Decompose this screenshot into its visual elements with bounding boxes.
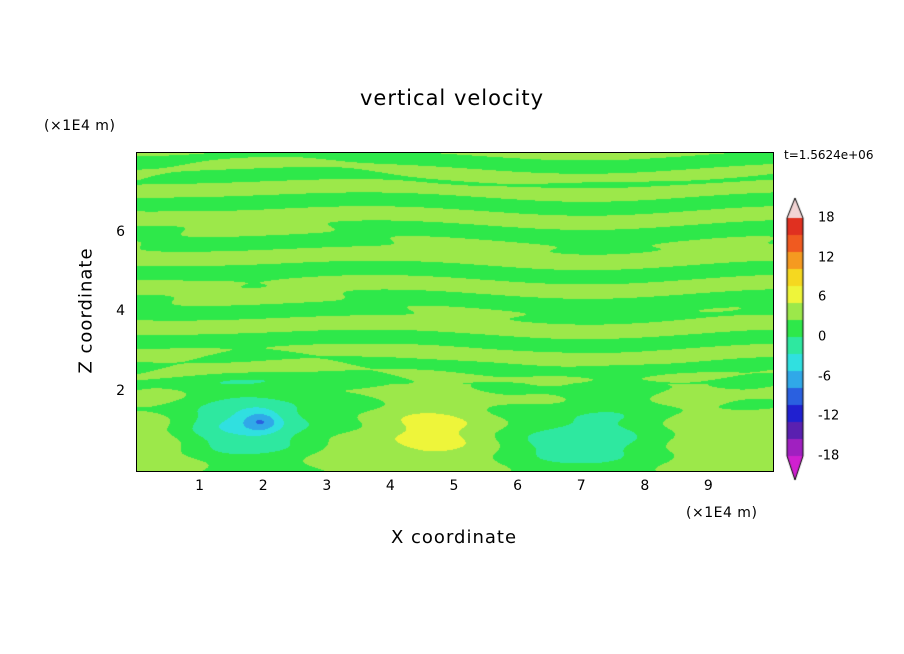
colorbar-tick-labels: 181260-6-12-18 [782,196,902,482]
x-tick-label: 4 [386,478,395,494]
colorbar-tick-label: -18 [818,449,839,464]
y-tick-label: 6 [95,224,125,240]
x-tick-label: 6 [513,478,522,494]
colorbar-tick-label: -12 [818,409,839,424]
y-axis-units: (×1E4 m) [44,118,115,134]
colorbar-tick-label: 0 [818,330,826,345]
colorbar-tick-label: 12 [818,250,835,265]
x-tick-label: 1 [195,478,204,494]
y-tick-label: 2 [95,383,125,399]
x-tick-label: 5 [450,478,459,494]
colorbar-tick-label: 6 [818,290,826,305]
colorbar-tick-label: 18 [818,211,835,226]
x-tick-label: 3 [322,478,331,494]
contour-plot-area [136,152,774,472]
timestamp-annotation: t=1.5624e+06 [784,148,873,162]
x-tick-label: 8 [640,478,649,494]
colorbar-tick-label: -6 [818,369,831,384]
x-tick-label: 2 [259,478,268,494]
x-axis-units: (×1E4 m) [686,505,757,521]
x-tick-label: 9 [704,478,713,494]
y-tick-label: 4 [95,303,125,319]
x-axis-label: X coordinate [136,527,772,548]
x-tick-label: 7 [577,478,586,494]
chart-title: vertical velocity [0,86,904,110]
